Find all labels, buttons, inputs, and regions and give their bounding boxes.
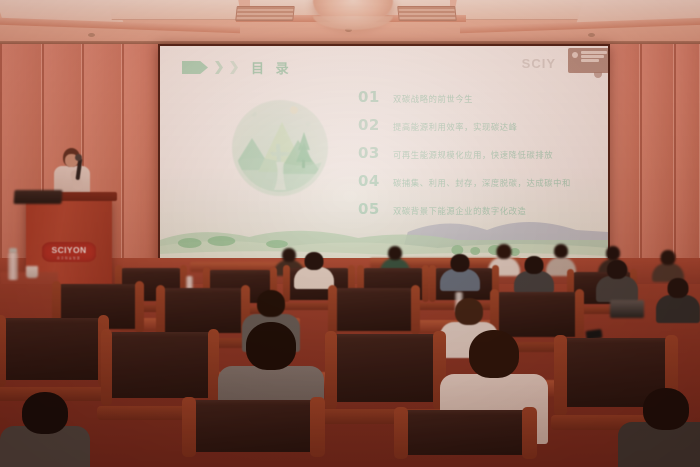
microphone-head: [75, 154, 82, 161]
audience-chair: [188, 400, 318, 467]
audience-person: [440, 254, 480, 288]
podium-logo: SCIYON 南京科远智慧: [42, 242, 96, 262]
audience-person: [618, 388, 700, 467]
toc-label: 可再生能源规模化应用，快速降低碳排放: [393, 149, 553, 161]
toc-number: 01: [358, 88, 380, 106]
badge-text-lines: [581, 51, 607, 62]
toc-number: 03: [358, 144, 380, 162]
paper-cup: [26, 266, 38, 278]
toc-label: 提高能源利用效率，实现碳达峰: [393, 121, 518, 133]
video-overlay-badge[interactable]: [568, 48, 608, 73]
laptop: [610, 300, 644, 318]
toc-item[interactable]: 03 可再生能源规模化应用，快速降低碳排放: [358, 144, 603, 172]
audience-person: [652, 250, 684, 280]
chevron-right-icon-1: [215, 61, 223, 74]
toc-number: 04: [358, 172, 380, 190]
audience-person: [514, 256, 554, 290]
audience-chair: [400, 410, 530, 467]
green-mountain-energy-illustration: [232, 100, 328, 196]
audience-person: [656, 278, 700, 322]
slide-header: 目 录: [182, 58, 293, 77]
podium-logo-subtext: 南京科远智慧: [57, 256, 81, 260]
arrow-icon: [182, 61, 208, 74]
air-vent-left: [235, 6, 295, 21]
podium-laptop: [14, 190, 63, 204]
audience-person: [0, 392, 90, 467]
toc-label: 双碳战略的前世今生: [393, 93, 473, 105]
water-bottle-cap: [9, 248, 17, 253]
toc-label: 碳捕集、利用、封存，深度脱碳，达成碳中和: [393, 177, 571, 189]
audience-person: [596, 260, 638, 300]
toc-list: 01 双碳战略的前世今生 02 提高能源利用效率，实现碳达峰 03 可再生能源规…: [358, 88, 603, 228]
projection-screen: 目 录: [158, 44, 610, 268]
toc-item[interactable]: 01 双碳战略的前世今生: [358, 88, 603, 116]
podium-logo-text: SCIYON: [52, 245, 87, 255]
toc-number: 02: [358, 116, 380, 134]
sciyon-watermark: SCIY: [522, 56, 556, 71]
slide-title: 目 录: [251, 58, 293, 77]
badge-tail: [594, 72, 602, 78]
audience-person: [294, 252, 334, 286]
toc-item[interactable]: 02 提高能源利用效率，实现碳达峰: [358, 116, 603, 144]
air-vent-right: [397, 6, 457, 21]
chevron-right-icon-2: [230, 61, 238, 74]
water-bottle: [8, 252, 18, 280]
conference-hall-photo: 目 录: [0, 0, 700, 467]
toc-item[interactable]: 04 碳捕集、利用、封存，深度脱碳，达成碳中和: [358, 172, 603, 200]
badge-avatar-icon: [572, 52, 578, 58]
